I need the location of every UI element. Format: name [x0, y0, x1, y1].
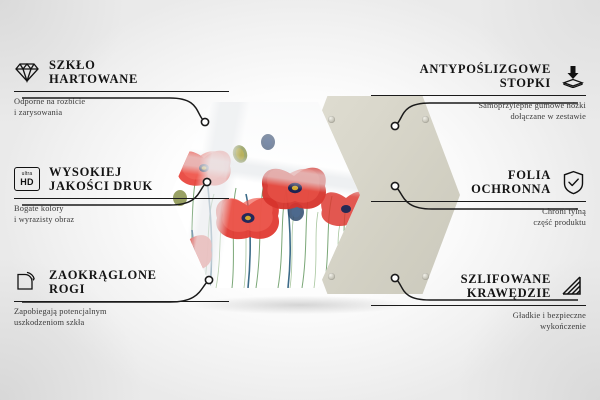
- feature-header: SZLIFOWANE KRAWĘDZIE: [371, 272, 586, 300]
- feature-subtitle-2: część produktu: [371, 218, 586, 229]
- ultra-hd-badge-icon: ultra HD: [14, 166, 40, 192]
- shield-check-icon: [560, 169, 586, 195]
- feature-subtitle-1: Odporne na rozbicie: [14, 97, 229, 108]
- divider: [371, 201, 586, 202]
- infographic-canvas: SZKŁO HARTOWANE Odporne na rozbicie i za…: [0, 0, 600, 400]
- feature-header: ZAOKRĄGLONE ROGI: [14, 268, 229, 296]
- diamond-icon: [14, 59, 40, 85]
- feature-subtitle-1: Chroni tylną: [371, 207, 586, 218]
- feature-subtitle-2: wykończenie: [371, 322, 586, 333]
- feature-rounded-corners: ZAOKRĄGLONE ROGI Zapobiegają potencjalny…: [14, 268, 229, 328]
- feature-subtitle-1: Gładkie i bezpieczne: [371, 311, 586, 322]
- feature-subtitle-2: i zarysowania: [14, 108, 229, 119]
- feature-subtitle-2: uszkodzeniom szkła: [14, 318, 229, 329]
- feature-polished-edges: SZLIFOWANE KRAWĘDZIE Gładkie i bezpieczn…: [371, 272, 586, 332]
- feature-subtitle-1: Bogate kolory: [14, 204, 229, 215]
- feature-title: SZKŁO HARTOWANE: [49, 58, 138, 86]
- anti-slip-foot: [328, 273, 335, 280]
- press-down-pad-icon: [560, 63, 586, 89]
- feature-subtitle-1: Zapobiegają potencjalnym: [14, 307, 229, 318]
- hd-badge-top: ultra: [22, 172, 33, 177]
- feature-title: WYSOKIEJ JAKOŚCI DRUK: [49, 165, 153, 193]
- feature-title: ANTYPOŚLIZGOWE STOPKI: [420, 62, 551, 90]
- divider: [371, 95, 586, 96]
- feature-title: FOLIA OCHRONNA: [471, 168, 551, 196]
- feature-subtitle-2: dołączane w zestawie: [371, 112, 586, 123]
- feature-header: ANTYPOŚLIZGOWE STOPKI: [371, 62, 586, 90]
- feature-tempered-glass: SZKŁO HARTOWANE Odporne na rozbicie i za…: [14, 58, 229, 118]
- diagonal-lines-icon: [560, 273, 586, 299]
- feature-high-quality-print: ultra HD WYSOKIEJ JAKOŚCI DRUK Bogate ko…: [14, 165, 229, 225]
- hd-badge-bottom: HD: [20, 178, 34, 187]
- feature-subtitle-2: i wyrazisty obraz: [14, 215, 229, 226]
- feature-header: ultra HD WYSOKIEJ JAKOŚCI DRUK: [14, 165, 229, 193]
- rounded-corner-icon: [14, 269, 40, 295]
- anti-slip-foot: [328, 116, 335, 123]
- feature-anti-slip-feet: ANTYPOŚLIZGOWE STOPKI Samoprzylepne gumo…: [371, 62, 586, 122]
- feature-title: ZAOKRĄGLONE ROGI: [49, 268, 157, 296]
- feature-header: SZKŁO HARTOWANE: [14, 58, 229, 86]
- feature-protective-film: FOLIA OCHRONNA Chroni tylną część produk…: [371, 168, 586, 228]
- divider: [14, 91, 229, 92]
- divider: [14, 198, 229, 199]
- feature-header: FOLIA OCHRONNA: [371, 168, 586, 196]
- divider: [371, 305, 586, 306]
- divider: [14, 301, 229, 302]
- feature-subtitle-1: Samoprzylepne gumowe nóżki: [371, 101, 586, 112]
- feature-title: SZLIFOWANE KRAWĘDZIE: [461, 272, 551, 300]
